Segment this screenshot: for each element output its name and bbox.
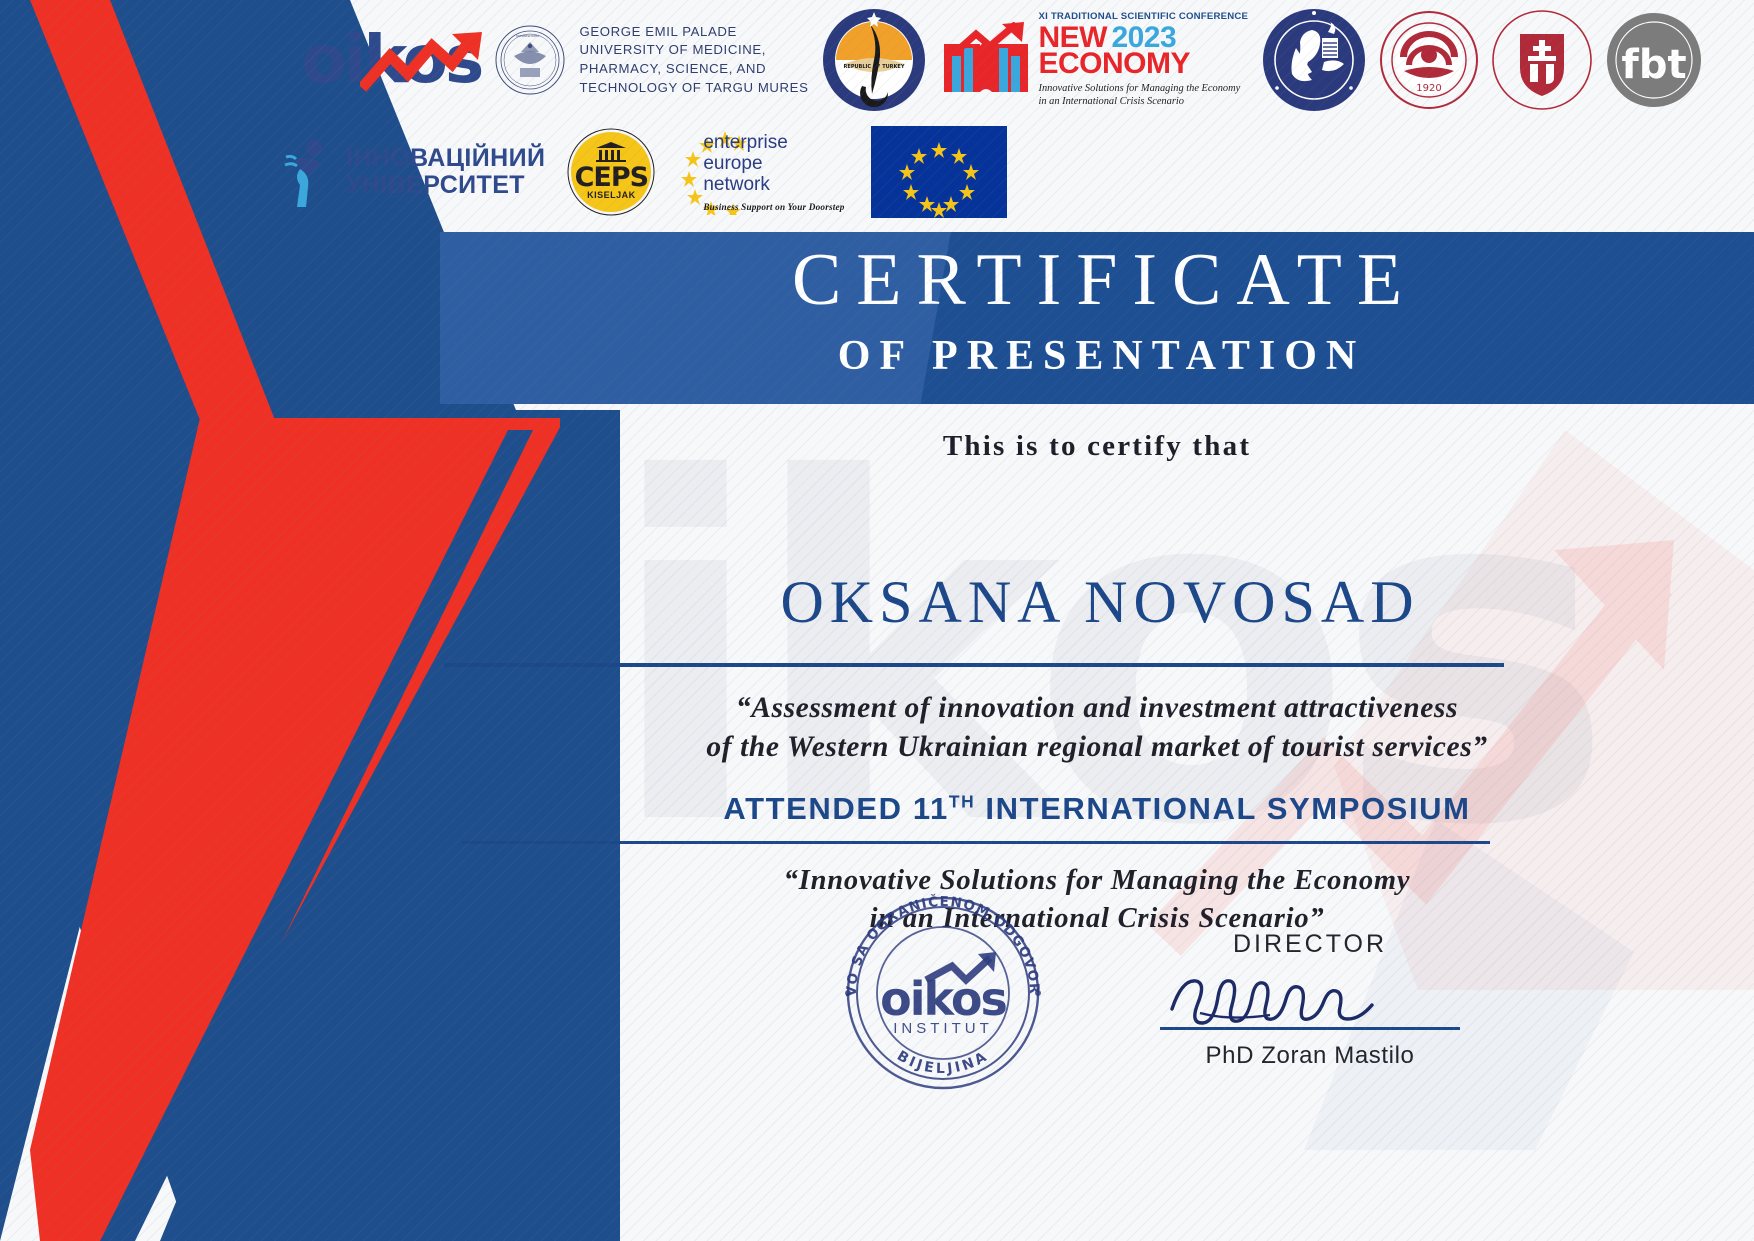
innovation-university-logo: ІННОВАЦІЙНИЙ УНІВЕРСИТЕТ: [280, 135, 545, 209]
inno-line-2: УНІВЕРСИТЕТ: [346, 172, 545, 199]
conference-subtitle: Innovative Solutions for Managing the Ec…: [1038, 82, 1248, 108]
symposium-line-1: “Innovative Solutions for Managing the E…: [470, 862, 1724, 900]
name-divider: [444, 663, 1504, 667]
handwritten-signature: [1160, 961, 1460, 1027]
logo-row-1: oikos UNIVERSITATEA: [250, 0, 1754, 120]
ceps-city: KISELJAK: [559, 190, 663, 200]
certificate-subtitle: OF PRESENTATION: [440, 332, 1754, 380]
seal-graphic: REPUBLIC OF TURKEY: [822, 8, 926, 112]
paper-title-line-2: of the Western Ukrainian regional market…: [470, 728, 1724, 767]
official-stamp: DRUŠTVO SA OGRANIČENOM ODGOVORNOŠĆU BIJE…: [830, 880, 1056, 1106]
eu-flag-stars-icon: [871, 126, 1007, 218]
een-line-1: enterprise: [703, 132, 844, 153]
logo-row-2: ІННОВАЦІЙНИЙ УНІВЕРСИТЕТ CEPS: [250, 120, 1754, 224]
uni-line-1: GEORGE EMIL PALADE: [580, 23, 809, 42]
seal-graphic: UNIVERSITATEA: [494, 24, 566, 96]
director-label: DIRECTOR: [1145, 930, 1475, 959]
symposium-line-2: in an International Crisis Scenario”: [470, 900, 1724, 938]
een-line-2: europe: [703, 153, 844, 174]
certificate-body: This is to certify that OKSANA NOVOSAD “…: [470, 408, 1724, 1241]
stamp-wordmark: oikos: [830, 972, 1056, 1026]
svg-text:REPUBLIC OF TURKEY: REPUBLIC OF TURKEY: [844, 64, 905, 70]
george-emil-palade-seal: UNIVERSITATEA: [494, 24, 566, 96]
attended-suffix: INTERNATIONAL SYMPOSIUM: [975, 791, 1470, 826]
attended-prefix: ATTENDED 11: [723, 791, 948, 826]
uni-line-2: UNIVERSITY OF MEDICINE,: [580, 41, 809, 60]
book-chart-icon: [940, 22, 1032, 98]
west-ukrainian-national-university-seal: [1262, 8, 1366, 112]
een-line-3: network: [703, 174, 844, 195]
temple-icon: [595, 142, 627, 162]
certify-text: This is to certify that: [470, 430, 1724, 463]
new-economy-headline: NEW 2023 ECONOMY: [1038, 23, 1248, 79]
attended-line: ATTENDED 11TH INTERNATIONAL SYMPOSIUM: [470, 791, 1724, 827]
attended-ordinal: TH: [949, 792, 975, 812]
svg-text:fbt: fbt: [1622, 42, 1687, 88]
ceps-wordmark: CEPS: [559, 162, 663, 193]
svg-text:UNIVERSITATEA: UNIVERSITATEA: [516, 34, 540, 38]
oikos-logo: oikos: [302, 16, 480, 104]
seal-graphic: [1492, 10, 1592, 110]
volyn-national-university-seal: [1492, 10, 1592, 110]
stamp-institut-label: INSTITUT: [830, 1020, 1056, 1037]
economy-word: ECONOMY: [1038, 49, 1248, 79]
certificate-title-band: CERTIFICATE OF PRESENTATION: [440, 232, 1754, 404]
oikos-arrow-icon: [360, 30, 485, 92]
unwe-sofia-seal: 1920: [1380, 11, 1478, 109]
een-tagline: Business Support on Your Doorstep: [703, 202, 844, 212]
symposium-title: “Innovative Solutions for Managing the E…: [470, 862, 1724, 938]
een-text: enterprise europe network Business Suppo…: [703, 132, 844, 212]
director-name: PhD Zoran Mastilo: [1145, 1042, 1475, 1070]
paper-title: “Assessment of innovation and investment…: [470, 689, 1724, 767]
seal-graphic: 1920: [1380, 11, 1478, 109]
seal-graphic: [1262, 8, 1366, 112]
new-economy-text: XI TRADITIONAL SCIENTIFIC CONFERENCE NEW…: [1038, 12, 1248, 108]
recipient-name: OKSANA NOVOSAD: [470, 568, 1724, 637]
paper-title-line-1: “Assessment of innovation and investment…: [470, 689, 1724, 728]
new-economy-logo: XI TRADITIONAL SCIENTIFIC CONFERENCE NEW…: [940, 12, 1248, 108]
uni-line-3: PHARMACY, SCIENCE, AND: [580, 60, 809, 79]
seal-graphic: fbt: [1606, 12, 1702, 108]
svg-text:1920: 1920: [1417, 83, 1442, 94]
signature-block: DIRECTOR PhD Zoran Mastilo: [1145, 930, 1475, 1070]
inno-line-1: ІННОВАЦІЙНИЙ: [346, 145, 545, 172]
certificate-page: oikos oikos: [0, 0, 1754, 1241]
enterprise-europe-network-logo: enterprise europe network Business Suppo…: [677, 129, 857, 215]
european-union-flag: [871, 126, 1007, 218]
uni-line-4: TECHNOLOGY OF TARGU MURES: [580, 79, 809, 98]
attended-divider: [462, 841, 1490, 844]
innovation-university-name: ІННОВАЦІЙНИЙ УНІВЕРСИТЕТ: [346, 145, 545, 199]
george-emil-palade-name: GEORGE EMIL PALADE UNIVERSITY OF MEDICIN…: [580, 23, 809, 98]
signature-divider: [1160, 1027, 1460, 1030]
institute-of-economic-development-seal: REPUBLIC OF TURKEY: [822, 8, 926, 112]
fbt-budva-seal: fbt: [1606, 12, 1702, 108]
certificate-title: CERTIFICATE: [440, 238, 1754, 323]
ceps-kiseljak-logo: CEPS KISELJAK: [559, 120, 663, 224]
person-icon: [280, 135, 334, 209]
logo-strip: oikos UNIVERSITATEA: [250, 0, 1754, 228]
